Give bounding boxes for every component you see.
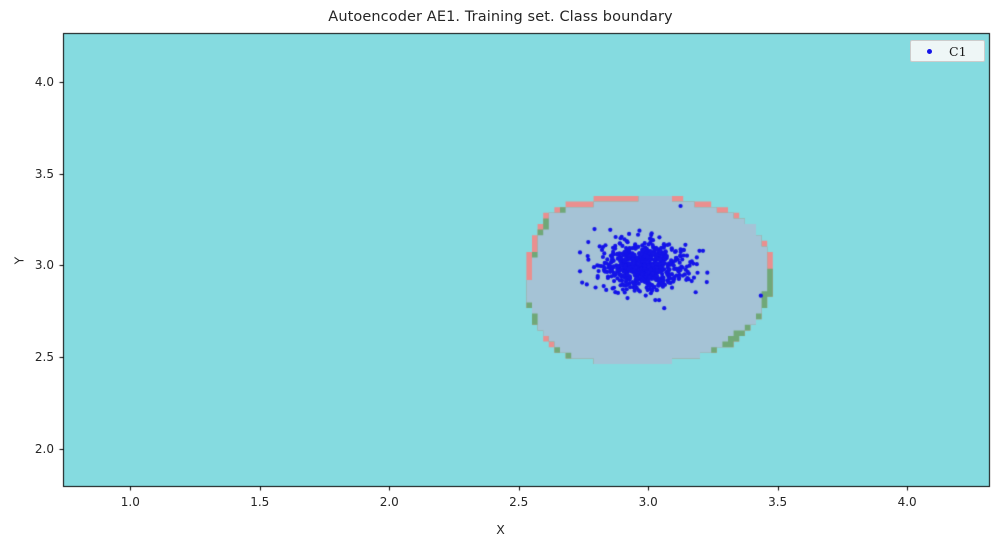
x-tick-label: 1.0 xyxy=(121,495,140,509)
y-tick-label: 3.0 xyxy=(23,258,54,272)
legend[interactable]: C1 xyxy=(910,40,985,62)
y-tick-label: 4.0 xyxy=(23,75,54,89)
y-tick-label: 2.5 xyxy=(23,350,54,364)
chart-title: Autoencoder AE1. Training set. Class bou… xyxy=(0,9,1001,25)
legend-label-c1: C1 xyxy=(949,44,967,59)
legend-marker-c1-icon xyxy=(927,49,932,54)
x-tick-label: 2.0 xyxy=(380,495,399,509)
y-tick-label: 2.0 xyxy=(23,442,54,456)
y-tick-label: 3.5 xyxy=(23,167,54,181)
x-tick-label: 1.5 xyxy=(250,495,269,509)
scatter-plot-canvas xyxy=(0,0,1001,547)
x-tick-label: 3.0 xyxy=(639,495,658,509)
x-tick-label: 2.5 xyxy=(509,495,528,509)
x-axis-label: X xyxy=(0,522,1001,537)
chart-figure: Autoencoder AE1. Training set. Class bou… xyxy=(0,0,1001,547)
x-tick-label: 3.5 xyxy=(768,495,787,509)
x-tick-label: 4.0 xyxy=(898,495,917,509)
